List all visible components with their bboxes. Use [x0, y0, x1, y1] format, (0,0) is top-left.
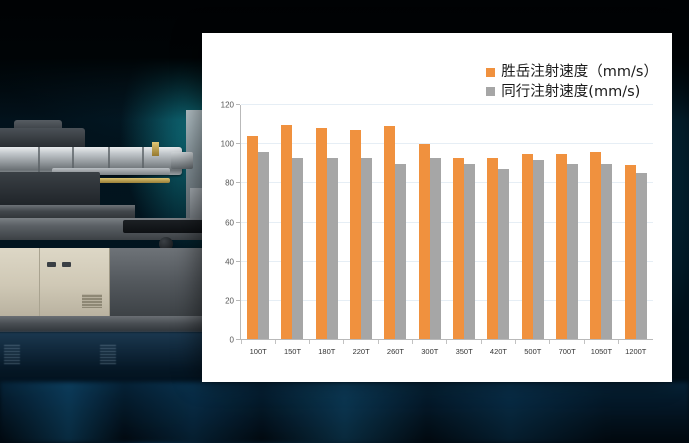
machine-cabinet-divider	[39, 248, 40, 316]
x-axis-tick-label: 150T	[275, 340, 309, 356]
bar-group	[378, 105, 412, 339]
y-axis-tick-mark	[236, 222, 240, 223]
machine-barrel-seam	[38, 147, 40, 175]
bar-shengyue[interactable]	[487, 158, 498, 339]
bar-peer[interactable]	[292, 158, 303, 339]
bar-shengyue[interactable]	[625, 165, 636, 339]
bar-shengyue[interactable]	[316, 128, 327, 339]
x-axis-tick-label: 1050T	[584, 340, 618, 356]
bar-peer[interactable]	[395, 164, 406, 340]
x-axis-tick-label: 260T	[378, 340, 412, 356]
x-axis-tick-label: 220T	[344, 340, 378, 356]
legend-item-label: 胜岳注射速度（mm/s）	[501, 65, 658, 80]
screenshot-stage: 胜岳注射速度（mm/s） 同行注射速度(mm/s) 02040608010012…	[0, 0, 689, 443]
x-axis-tick-label: 420T	[481, 340, 515, 356]
bar-group	[344, 105, 378, 339]
bar-group	[550, 105, 584, 339]
bar-shengyue[interactable]	[522, 154, 533, 339]
bar-shengyue[interactable]	[350, 130, 361, 339]
y-axis-tick-label: 0	[230, 336, 234, 345]
x-axis-labels-container: 100T150T180T220T260T300T350T420T500T700T…	[241, 340, 653, 356]
bar-peer[interactable]	[464, 164, 475, 340]
bar-group	[413, 105, 447, 339]
x-axis-tick-label: 180T	[310, 340, 344, 356]
bar-shengyue[interactable]	[247, 136, 258, 339]
bar-group	[241, 105, 275, 339]
square-swatch-icon	[486, 87, 495, 96]
x-axis-tick-label: 300T	[413, 340, 447, 356]
x-axis-tick-label: 100T	[241, 340, 275, 356]
machine-button	[62, 262, 71, 267]
bar-peer[interactable]	[361, 158, 372, 339]
bar-group	[275, 105, 309, 339]
machine-button	[47, 262, 56, 267]
bar-peer[interactable]	[601, 164, 612, 340]
x-axis-tick-label: 700T	[550, 340, 584, 356]
bar-shengyue[interactable]	[590, 152, 601, 339]
machine-base	[0, 316, 212, 332]
y-axis-tick-label: 40	[225, 257, 234, 266]
y-axis-tick-mark	[236, 104, 240, 105]
y-axis-tick-label: 60	[225, 218, 234, 227]
y-axis-tick-mark	[236, 143, 240, 144]
bar-group	[310, 105, 344, 339]
bar-groups-container	[241, 105, 653, 339]
background-bottom-light-streaks	[0, 382, 689, 443]
x-axis-tick-label: 500T	[516, 340, 550, 356]
y-axis-tick-mark	[236, 182, 240, 183]
y-axis-tick-mark	[236, 300, 240, 301]
bar-peer[interactable]	[498, 169, 509, 339]
machine-vent	[82, 294, 102, 308]
bar-peer[interactable]	[327, 158, 338, 339]
bar-shengyue[interactable]	[281, 125, 292, 340]
y-axis-tick-label: 120	[221, 101, 234, 110]
y-axis-tick-label: 80	[225, 179, 234, 188]
machine-nozzle	[171, 152, 193, 169]
y-axis-tick-label: 100	[221, 140, 234, 149]
y-axis-tick-label: 20	[225, 296, 234, 305]
bar-shengyue[interactable]	[453, 158, 464, 339]
bar-group	[619, 105, 653, 339]
bar-shengyue[interactable]	[419, 144, 430, 339]
y-axis-tick-mark	[236, 339, 240, 340]
machine-cover	[110, 248, 212, 316]
chart-panel: 胜岳注射速度（mm/s） 同行注射速度(mm/s) 02040608010012…	[202, 33, 672, 382]
x-axis-tick-label: 350T	[447, 340, 481, 356]
bar-group	[481, 105, 515, 339]
bar-shengyue[interactable]	[556, 154, 567, 339]
machine-dark-panel	[123, 220, 212, 233]
bar-peer[interactable]	[567, 164, 578, 340]
bar-shengyue[interactable]	[384, 126, 395, 339]
bar-group	[584, 105, 618, 339]
machine-reflection-vent	[4, 345, 20, 365]
machine-gold-rod	[90, 178, 170, 183]
square-swatch-icon	[486, 68, 495, 77]
y-axis-tick-mark	[236, 261, 240, 262]
bar-peer[interactable]	[430, 158, 441, 339]
legend-item-label: 同行注射速度(mm/s)	[501, 85, 640, 100]
injection-molding-machine-photo	[0, 0, 212, 443]
legend-item[interactable]: 胜岳注射速度（mm/s）	[486, 65, 658, 80]
machine-gold-fitting	[152, 142, 159, 156]
bar-peer[interactable]	[533, 160, 544, 339]
machine-reflection-vent	[100, 345, 116, 365]
bar-peer[interactable]	[258, 152, 269, 339]
plot-area: 020406080100120	[240, 105, 653, 340]
x-axis-tick-label: 1200T	[619, 340, 653, 356]
legend-item[interactable]: 同行注射速度(mm/s)	[486, 85, 658, 100]
bar-group	[516, 105, 550, 339]
chart-legend: 胜岳注射速度（mm/s） 同行注射速度(mm/s)	[486, 65, 658, 104]
bar-peer[interactable]	[636, 173, 647, 339]
bar-group	[447, 105, 481, 339]
